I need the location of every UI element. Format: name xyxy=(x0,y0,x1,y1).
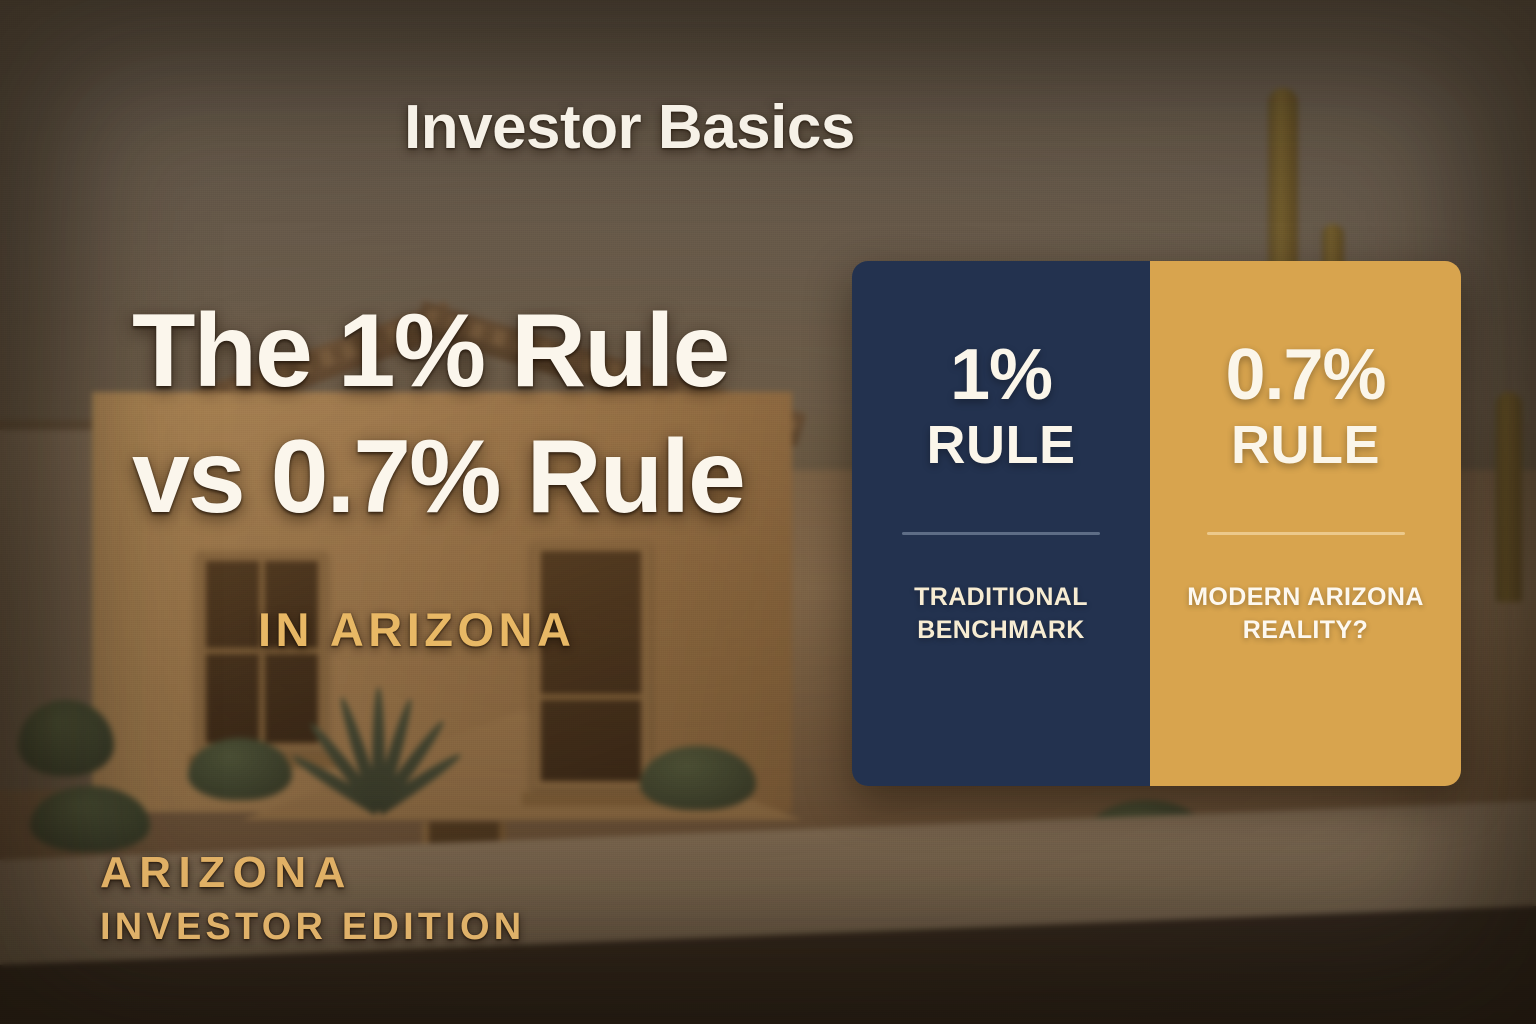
brand-line-2: INVESTOR EDITION xyxy=(100,906,525,949)
comparison-pane-modern: 0.7% RULE MODERN ARIZONA REALITY? xyxy=(1150,261,1461,786)
eyebrow-label: Investor Basics xyxy=(404,92,855,163)
left-rule-label: RULE xyxy=(927,417,1076,474)
poster-canvas: Investor Basics The 1% Rule vs 0.7% Rule… xyxy=(0,0,1536,1024)
right-caption: MODERN ARIZONA REALITY? xyxy=(1172,581,1439,647)
brand-line-1: ARIZONA xyxy=(100,848,525,898)
brand-lockup: ARIZONA INVESTOR EDITION xyxy=(100,848,525,949)
comparison-pane-traditional: 1% RULE TRADITIONAL BENCHMARK xyxy=(852,261,1150,786)
headline-line-1: The 1% Rule xyxy=(132,293,728,409)
left-caption: TRADITIONAL BENCHMARK xyxy=(874,581,1128,647)
right-rule-label: RULE xyxy=(1231,417,1380,474)
right-percent-value: 0.7% xyxy=(1225,339,1385,411)
left-percent-value: 1% xyxy=(950,339,1052,411)
comparison-card: 1% RULE TRADITIONAL BENCHMARK 0.7% RULE … xyxy=(852,261,1461,786)
subheadline: IN ARIZONA xyxy=(258,602,575,657)
headline-line-2: vs 0.7% Rule xyxy=(132,424,832,530)
right-divider xyxy=(1207,532,1405,535)
left-divider xyxy=(902,532,1100,535)
page-title: The 1% Rule vs 0.7% Rule xyxy=(132,298,832,530)
